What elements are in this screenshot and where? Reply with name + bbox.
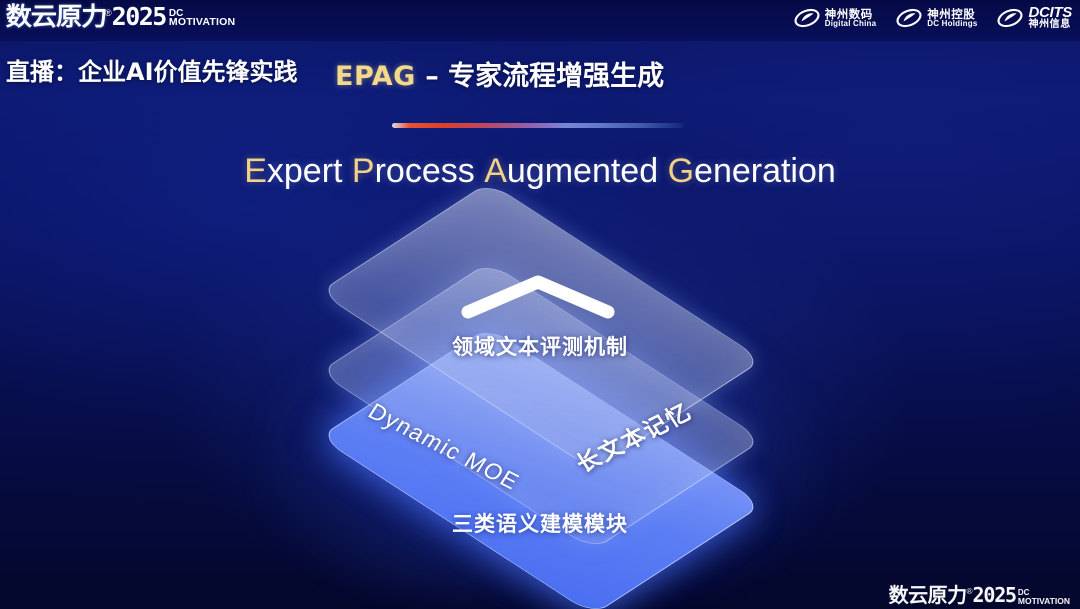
partner-text-digital-china: 神州数码 Digital China [825,8,877,28]
watermark-name-cn: 数云原力 [889,585,967,605]
partner-logo-group: 神州数码 Digital China 神州控股 DC Holdings DCIT… [794,5,1072,31]
brand-logo-watermark: 数云原力®2025 DC MOTIVATION [889,585,1070,605]
partner-name-en: DC Holdings [927,20,977,28]
swirl-logo-icon [997,7,1023,29]
partner-name-en: DCITS [1028,5,1072,20]
brand-motivation-label: MOTIVATION [169,18,235,28]
acronym-rest-expert: xpert [267,152,343,190]
partner-logo-digital-china: 神州数码 Digital China [794,7,877,29]
partner-name-cn: 神州信息 [1028,20,1072,31]
acronym-rest-process: rocess [375,152,475,190]
acronym-expansion: Expert Process Augmented Generation [0,152,1080,191]
live-stream-title: 直播：企业AI价值先锋实践 [6,52,298,87]
watermark-motivation-block: DC MOTIVATION [1018,589,1070,605]
acronym-initial-e: E [244,152,267,190]
partner-text-dc-holdings: 神州控股 DC Holdings [927,8,977,28]
partner-logo-dcits: DCITS 神州信息 [997,5,1072,31]
partner-text-dcits: DCITS 神州信息 [1028,5,1072,31]
brand-registered-mark: ® [105,8,112,18]
acronym-rest-generation: eneration [694,152,836,190]
chevron-up-icon [460,272,616,320]
page-title-acronym: EPAG [335,61,416,92]
watermark-motivation-label: MOTIVATION [1018,597,1070,605]
gradient-divider [392,123,684,128]
swirl-logo-icon [896,7,922,29]
brand-motivation-block: DC MOTIVATION [169,9,235,28]
partner-name-cn: 神州数码 [825,8,877,20]
brand-name-cn: 数云原力 [6,4,107,29]
page-title: EPAG – 专家流程增强生成 [335,54,664,93]
diagram-layer-bottom-label: 三类语义建模模块 [0,508,1080,538]
slide-canvas: 数云原力®2025 DC MOTIVATION 神州数码 Digital Chi… [0,0,1080,609]
brand-year: 2025 [112,4,166,29]
watermark-year: 2025 [973,585,1016,605]
acronym-initial-g: G [668,152,694,190]
partner-name-en: Digital China [825,20,877,28]
brand-logo-top: 数云原力®2025 DC MOTIVATION [8,4,235,29]
page-title-dash: – [416,61,448,92]
page-title-cn: 专家流程增强生成 [448,61,664,92]
watermark-registered-mark: ® [967,587,973,596]
swirl-logo-icon [794,7,820,29]
diagram-layer-top-label: 领域文本评测机制 [0,331,1080,361]
acronym-initial-a: A [484,152,507,190]
acronym-rest-augmented: ugmented [507,152,658,190]
acronym-initial-p: P [352,152,375,190]
partner-name-cn: 神州控股 [927,8,977,20]
partner-logo-dc-holdings: 神州控股 DC Holdings [896,7,977,29]
